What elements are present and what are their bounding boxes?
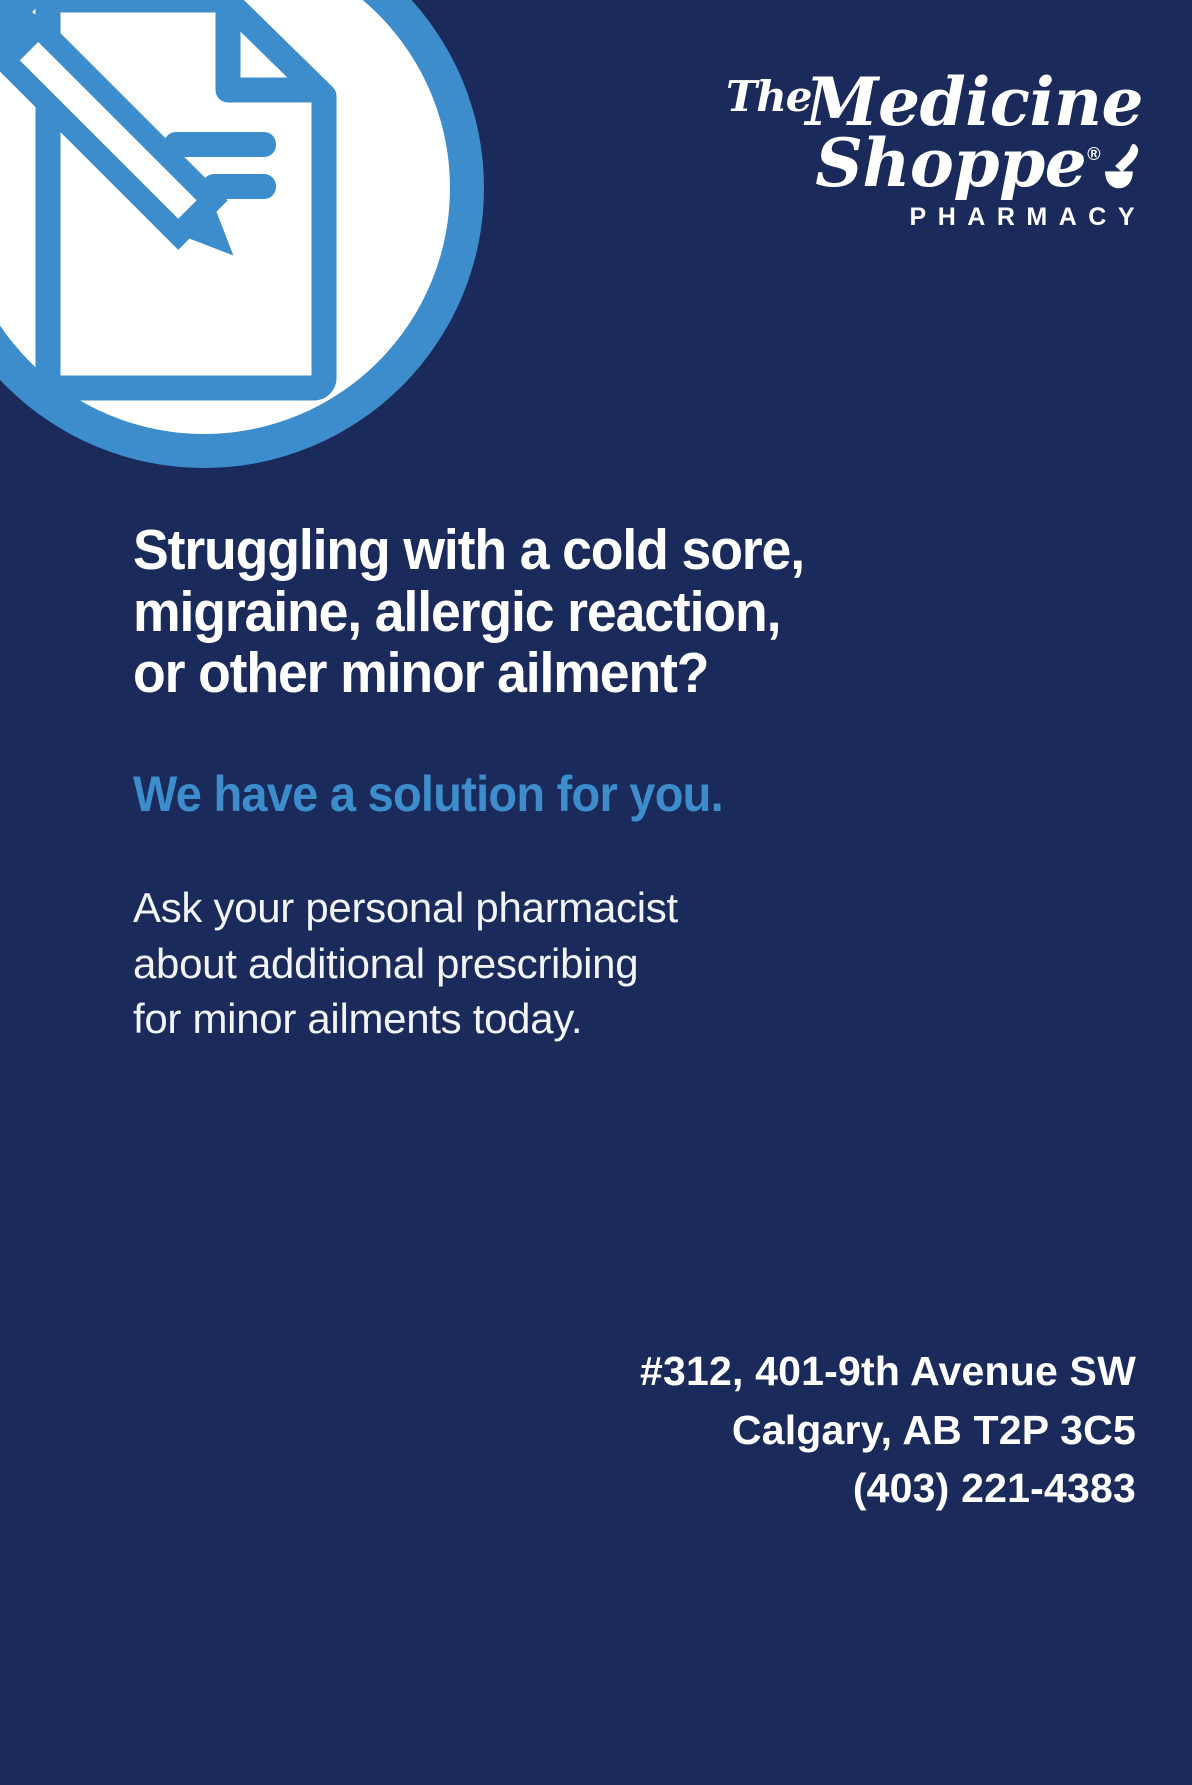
body-line-3: for minor ailments today. [133, 991, 1132, 1047]
logo-word-the: The [726, 72, 812, 121]
headline-line-2: migraine, allergic reaction, [133, 582, 1072, 644]
logo-line-shoppe: Shoppe® [726, 133, 1146, 198]
logo-word-shoppe: Shoppe [815, 124, 1086, 202]
address-block: #312, 401-9th Avenue SW Calgary, AB T2P … [640, 1342, 1136, 1517]
headline-line-1: Struggling with a cold sore, [133, 520, 1072, 582]
subheading: We have a solution for you. [133, 767, 1072, 822]
body-line-2: about additional prescribing [133, 936, 1132, 992]
address-city-province-postal: Calgary, AB T2P 3C5 [640, 1401, 1136, 1459]
logo-word-pharmacy: PHARMACY [726, 203, 1146, 232]
badge-circle [0, 0, 484, 468]
mortar-and-pestle-icon [1102, 137, 1142, 198]
headline-line-3: or other minor ailment? [133, 643, 1072, 705]
poster-root: TheMedicine Shoppe® PHARMACY Struggling … [0, 0, 1192, 1785]
document-with-pencil-icon [0, 0, 416, 404]
headline: Struggling with a cold sore, migraine, a… [133, 520, 1072, 705]
brand-logo: TheMedicine Shoppe® PHARMACY [726, 72, 1146, 232]
main-content: Struggling with a cold sore, migraine, a… [133, 520, 1132, 1047]
body-text: Ask your personal pharmacist about addit… [133, 880, 1132, 1048]
registered-trademark-icon: ® [1087, 144, 1100, 164]
address-phone[interactable]: (403) 221-4383 [640, 1459, 1136, 1517]
address-street: #312, 401-9th Avenue SW [640, 1342, 1136, 1400]
body-line-1: Ask your personal pharmacist [133, 880, 1132, 936]
